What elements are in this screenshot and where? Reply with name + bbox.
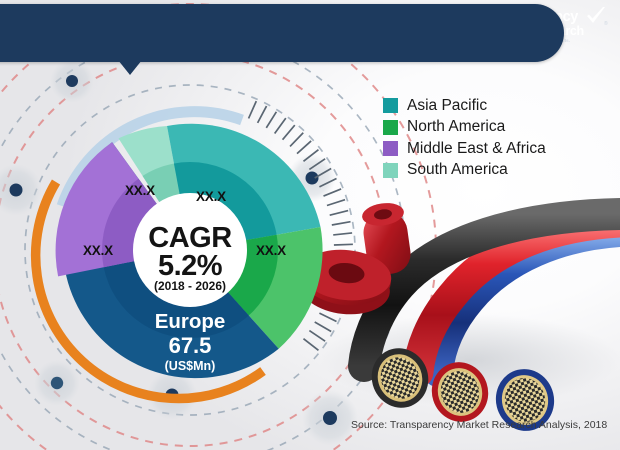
legend-swatch-icon: [383, 141, 398, 156]
legend-swatch-icon: [383, 163, 398, 178]
source-note: Source: Transparency Market Research Ana…: [351, 419, 607, 431]
legend-label: Asia Pacific: [407, 97, 487, 115]
cagr-value: 5.2%: [90, 252, 290, 281]
legend-swatch-icon: [383, 98, 398, 113]
legend-item-south-america[interactable]: South America: [383, 160, 546, 182]
chart-legend: Asia Pacific North America Middle East &…: [383, 95, 546, 181]
legend-item-asia-pacific[interactable]: Asia Pacific: [383, 95, 546, 117]
legend-label: Middle East & Africa: [407, 140, 546, 158]
cagr-period: (2018 - 2026): [90, 280, 290, 292]
legend-label: North America: [407, 118, 505, 136]
legend-label: South America: [407, 161, 508, 179]
header-pointer: [118, 60, 142, 75]
cagr-label: CAGR: [90, 224, 290, 253]
legend-swatch-icon: [383, 120, 398, 135]
europe-label: Europe: [90, 312, 290, 333]
legend-item-north-america[interactable]: North America: [383, 117, 546, 139]
infographic-canvas: Global Ceramified Cable Market Revenue B…: [0, 0, 620, 450]
legend-item-middle-east-africa[interactable]: Middle East & Africa: [383, 138, 546, 160]
europe-value: 67.5: [90, 335, 290, 357]
europe-unit: (US$Mn): [90, 360, 290, 373]
header-banner: [0, 4, 564, 62]
slice-label-south-america: XX.X: [125, 183, 155, 198]
slice-label-asia-pacific: XX.X: [196, 189, 226, 204]
